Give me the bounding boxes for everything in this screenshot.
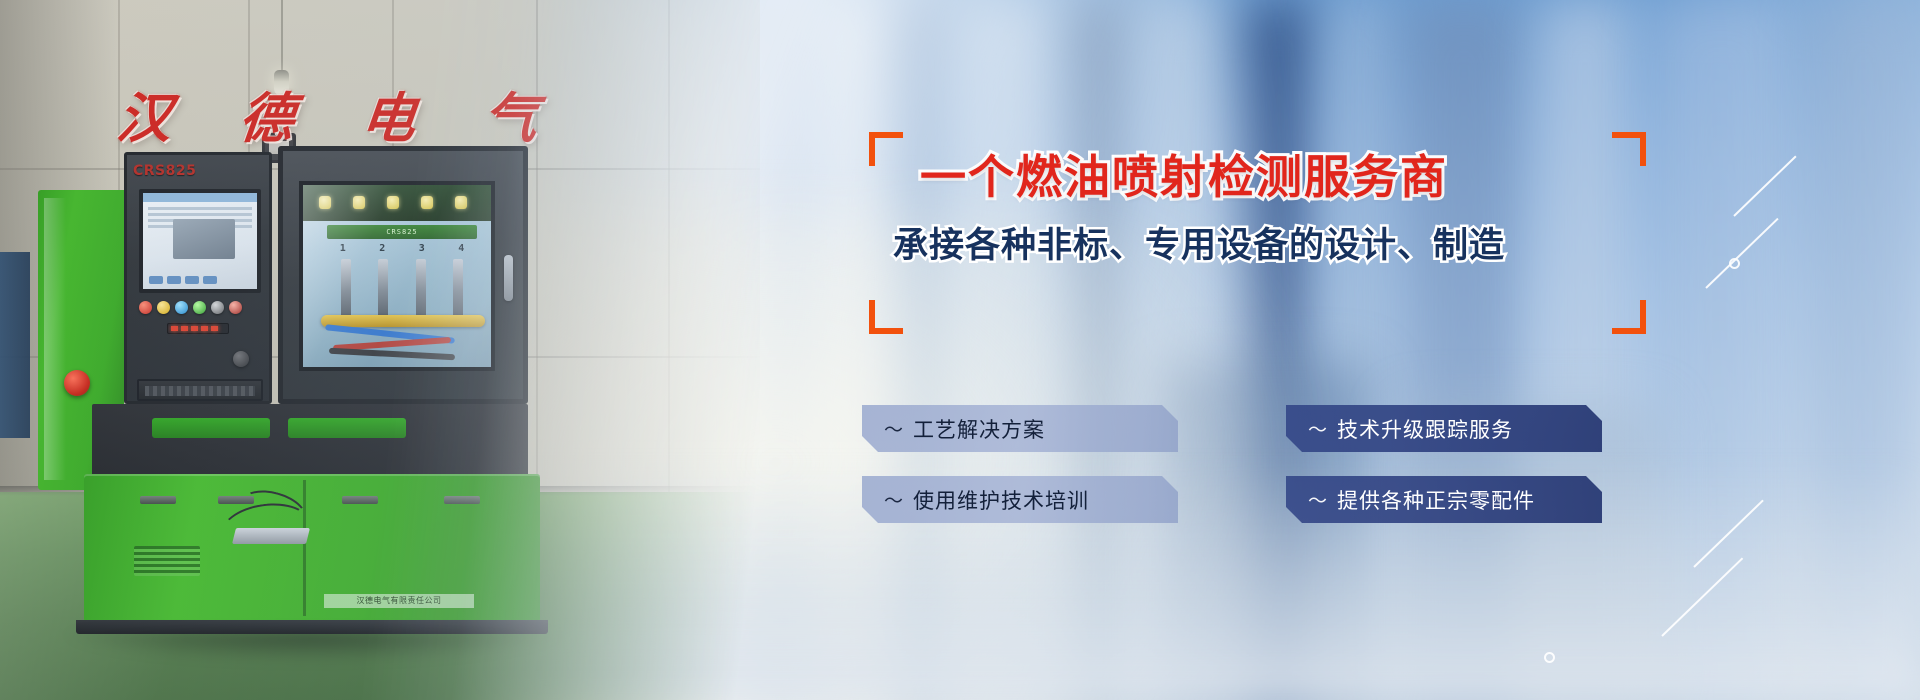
feature-tag-grid: ～ 工艺解决方案 ～ 技术升级跟踪服务 ～ 使用维护技术培训 ～ 提供各种正宗零… <box>862 405 1602 547</box>
hero-banner: 汉 德 电 气 CRS825 <box>0 0 1920 700</box>
corner-bracket-icon <box>869 132 903 166</box>
tilde-icon: ～ <box>1308 415 1328 442</box>
feature-tag-row: ～ 工艺解决方案 ～ 技术升级跟踪服务 <box>862 405 1602 452</box>
workshop-photo: 汉 德 电 气 CRS825 <box>0 0 760 700</box>
feature-tag-genuine-parts[interactable]: ～ 提供各种正宗零配件 <box>1286 476 1602 523</box>
corner-bracket-icon <box>1612 132 1646 166</box>
page-subtitle: 承接各种非标、专用设备的设计、制造 <box>893 217 1505 268</box>
feature-tag-maintenance-training[interactable]: ～ 使用维护技术培训 <box>862 476 1178 523</box>
feature-tag-label: 技术升级跟踪服务 <box>1337 414 1513 444</box>
feature-tag-process-solution[interactable]: ～ 工艺解决方案 <box>862 405 1178 452</box>
feature-tag-label: 使用维护技术培训 <box>913 485 1089 515</box>
feature-tag-row: ～ 使用维护技术培训 ～ 提供各种正宗零配件 <box>862 476 1602 523</box>
feature-tag-label: 提供各种正宗零配件 <box>1337 485 1535 515</box>
corner-bracket-icon <box>869 300 903 334</box>
tilde-icon: ～ <box>884 486 904 513</box>
tilde-icon: ～ <box>1308 486 1328 513</box>
feature-tag-label: 工艺解决方案 <box>913 414 1045 444</box>
tilde-icon: ～ <box>884 415 904 442</box>
decor-ring-icon <box>1544 652 1555 663</box>
feature-tag-upgrade-tracking[interactable]: ～ 技术升级跟踪服务 <box>1286 405 1602 452</box>
page-title: 一个燃油喷射检测服务商 <box>920 141 1448 207</box>
photo-color-tint <box>0 0 760 700</box>
corner-bracket-icon <box>1612 300 1646 334</box>
